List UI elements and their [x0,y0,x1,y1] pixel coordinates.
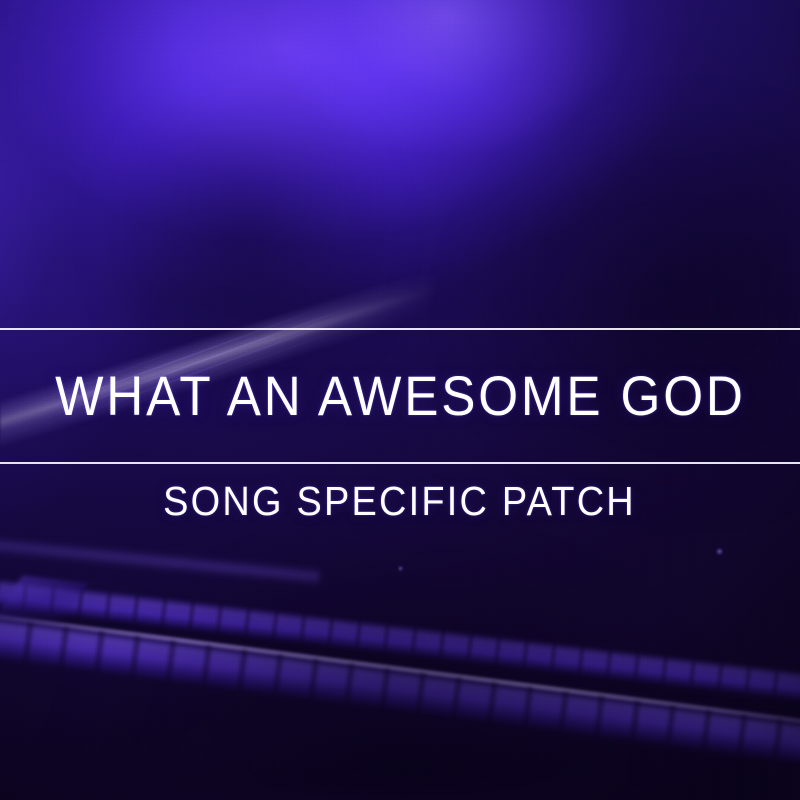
song-title-block: WHAT AN AWESOME GOD [0,330,800,462]
song-subtitle: SONG SPECIFIC PATCH [164,481,637,522]
song-artwork-canvas: WHAT AN AWESOME GOD SONG SPECIFIC PATCH [0,0,800,800]
song-subtitle-block: SONG SPECIFIC PATCH [0,464,800,538]
song-title: WHAT AN AWESOME GOD [55,368,746,424]
artwork-text-overlay: WHAT AN AWESOME GOD SONG SPECIFIC PATCH [0,0,800,800]
